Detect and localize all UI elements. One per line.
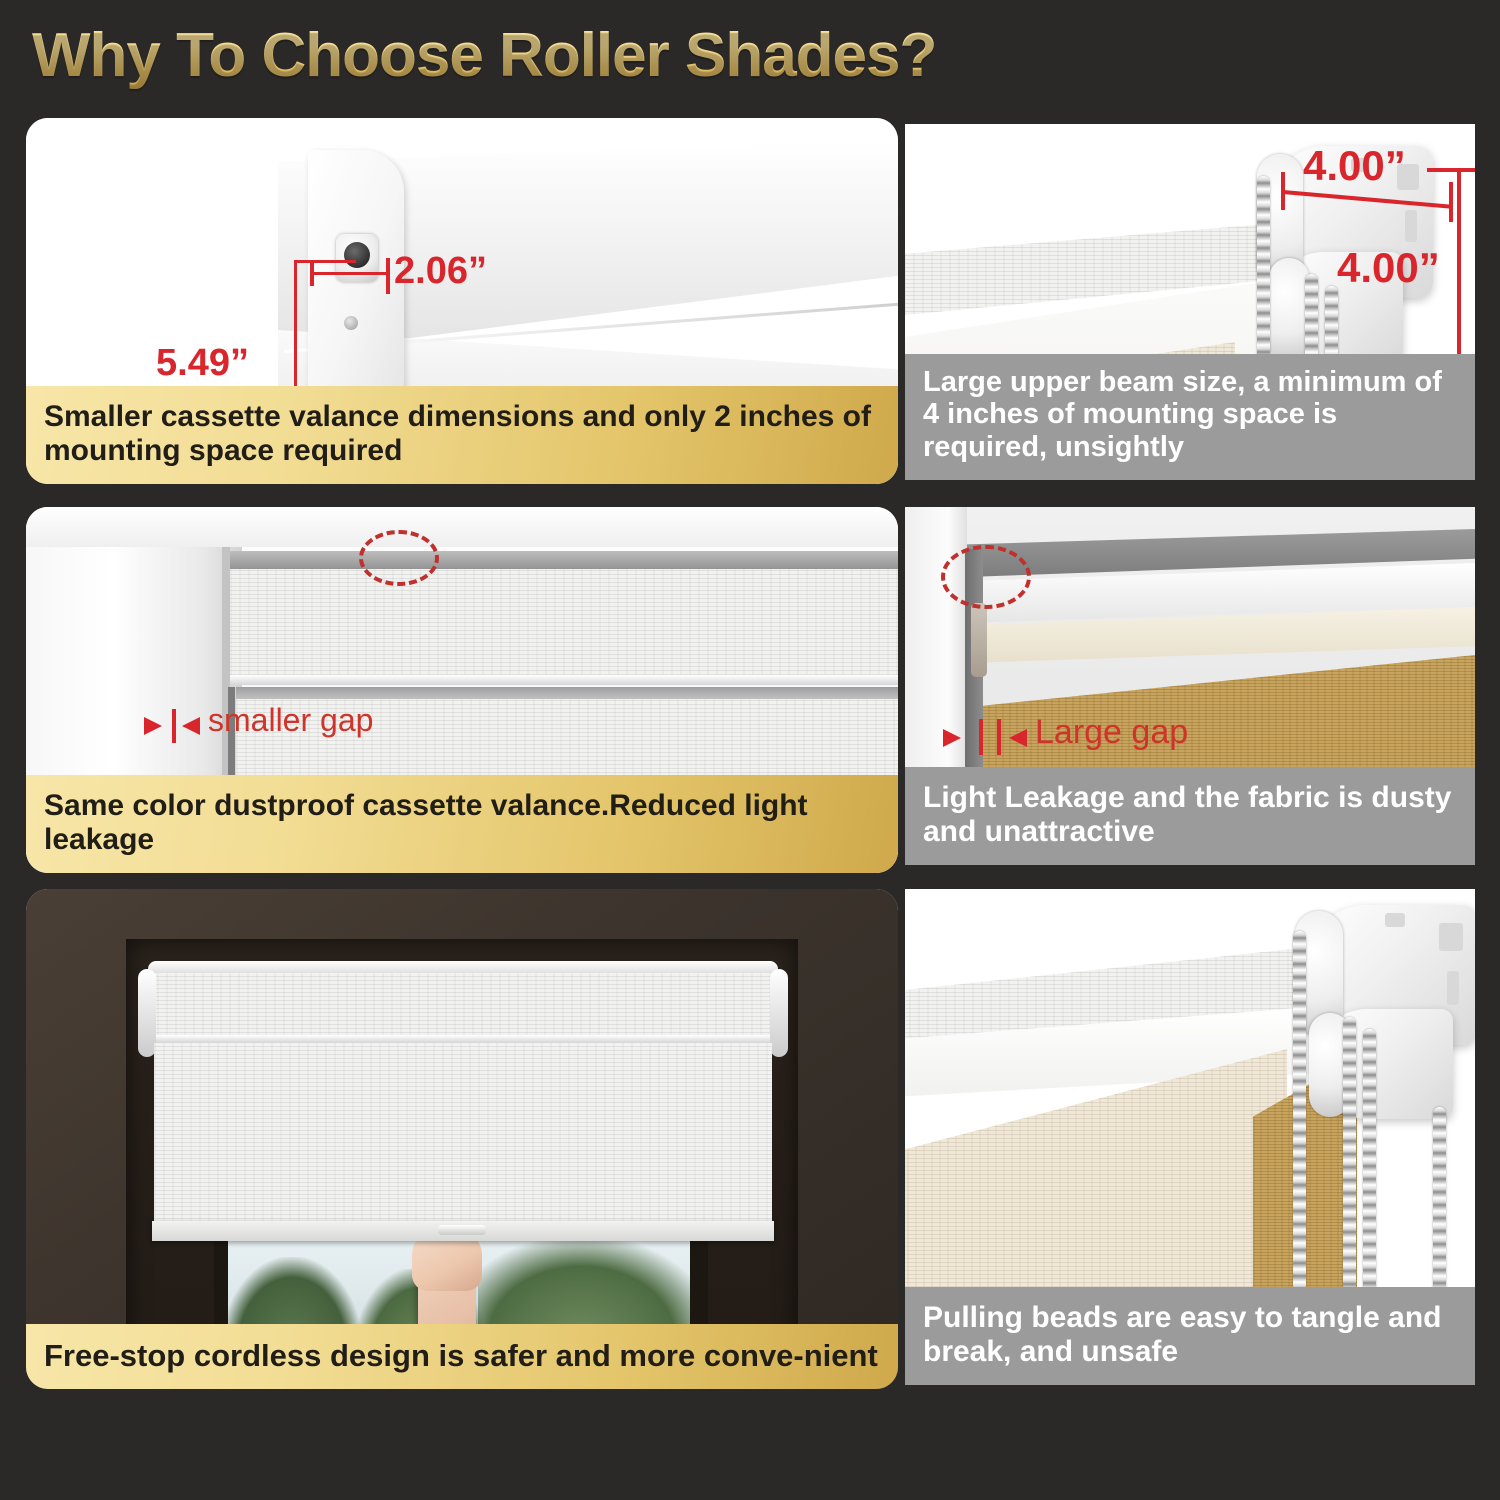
valance-top-edge [230,551,898,571]
caption-bottom-left: Free-stop cordless design is safer and m… [26,1324,898,1389]
panel-top-right[interactable]: 4.00” 4.00” Large upper beam size, a min… [905,124,1475,480]
gap-arrow-left [1009,729,1027,747]
bracket-slot-2 [1447,971,1459,1005]
beam-height-label: 4.00” [1337,244,1440,292]
cassette-face [148,973,778,1041]
gap-tick-1 [979,719,983,755]
gap-arrow-right [943,729,961,747]
panel-bottom-left[interactable]: Free-stop cordless design is safer and m… [26,889,898,1389]
panel-middle-left[interactable]: smaller gap Same color dustproof cassett… [26,507,898,873]
gap-label-small: smaller gap [208,702,373,739]
gap-arrow-left [182,717,200,735]
dim-width-label: 2.06” [394,250,487,293]
shade-fabric-main [154,1043,772,1239]
panel-top-left[interactable]: 2.06” 5.49” Smaller cassette valance dim… [26,118,898,484]
panel-bottom-right[interactable]: Pulling beads are easy to tangle and bre… [905,889,1475,1385]
dim-height-cap-top [294,260,356,263]
beam-width-tick-right [1449,182,1453,222]
beam-height-cap-top [1427,168,1475,172]
caption-top-left: Smaller cassette valance dimensions and … [26,386,898,484]
beam-height-line [1457,168,1461,368]
dim-width-tick-right [386,258,390,294]
bracket-slot-1 [1439,923,1463,951]
caption-middle-left: Same color dustproof cassette valance.Re… [26,775,898,873]
beam-width-label: 4.00” [1303,142,1406,190]
caption-middle-right: Light Leakage and the fabric is dusty an… [905,767,1475,865]
gap-label-large: Large gap [1035,713,1188,752]
valance-bottom-lip [230,675,898,685]
beam-width-tick-left [1281,172,1285,210]
exposed-hardware [971,603,987,677]
roller-end-disc-lower [1269,258,1309,364]
window-head-trim [26,507,898,547]
bracket-slot-3 [1385,913,1405,927]
cassette-end-right [770,969,788,1057]
panel-middle-right[interactable]: Large gap Light Leakage and the fabric i… [905,507,1475,865]
photo-cordless-scene [26,889,898,1389]
dim-width-line [312,272,390,275]
gap-tick-2 [997,719,1001,755]
highlight-ellipse [941,545,1031,609]
caption-bottom-right: Pulling beads are easy to tangle and bre… [905,1287,1475,1385]
caption-top-right: Large upper beam size, a minimum of 4 in… [905,354,1475,480]
gap-arrow-right [144,717,162,735]
bottom-rail-grip[interactable] [438,1225,486,1235]
dim-height-label: 5.49” [156,342,249,385]
end-cap-screw-upper [344,316,358,330]
valance-front-face [230,569,898,679]
highlight-ellipse [359,530,439,586]
dim-width-tick-left [310,262,314,286]
gap-tick [172,709,176,743]
end-cap-hole [344,242,370,268]
comparison-grid: 2.06” 5.49” Smaller cassette valance dim… [0,0,1500,1500]
bracket-slot-2 [1405,210,1417,242]
